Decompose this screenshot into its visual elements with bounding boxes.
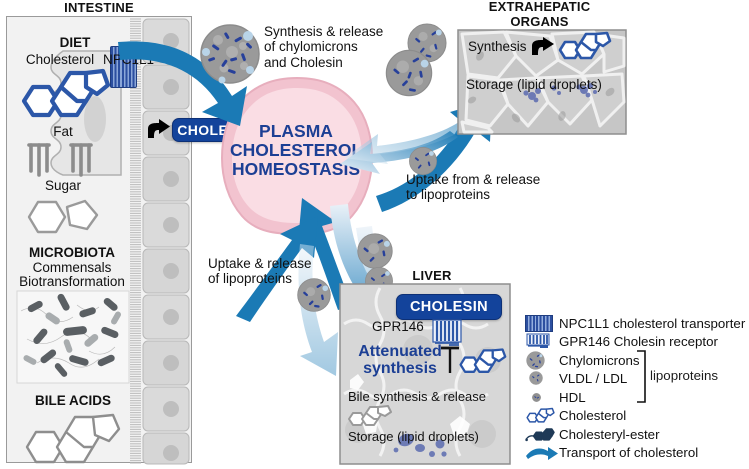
liver-storage-label: Storage (lipid droplets) xyxy=(348,430,479,444)
extrahepatic-storage-label: Storage (lipid droplets) xyxy=(466,78,602,93)
gpr146-label: GPR146 xyxy=(372,320,424,335)
lipoproteins-bracket-label: lipoproteins xyxy=(650,368,718,383)
extrahepatic-title-line-2: ORGANS xyxy=(452,15,627,30)
cholesteryl-ester-icon xyxy=(525,426,559,443)
cholesteryl-ester-glyph xyxy=(525,427,555,443)
legend-item-transport: Transport of cholesterol xyxy=(525,444,747,463)
liver-cholesterol-molecule-icon xyxy=(457,347,507,377)
liver-cholesin-badge: CHOLESIN xyxy=(396,294,502,320)
extrahepatic-cholesterol-molecule-icon xyxy=(556,32,612,62)
synthesis-release-line-2: of chylomicrons xyxy=(264,39,383,54)
legend-label-transport: Transport of cholesterol xyxy=(559,445,698,460)
legend-label-vldl-ldl: VLDL / LDL xyxy=(559,371,627,386)
uptake-from-line-1: Uptake from & release xyxy=(406,172,540,187)
uptake-from-line-2: to lipoproteins xyxy=(406,187,540,202)
uptake-from-release-to-annotation: Uptake from & release to lipoproteins xyxy=(406,172,540,203)
chylomicron-glyph xyxy=(526,351,545,370)
extrahepatic-title-line-1: EXTRAHEPATIC xyxy=(452,0,627,15)
legend-label-npc1l1: NPC1L1 cholesterol transporter xyxy=(559,316,745,331)
legend-label-hdl: HDL xyxy=(559,390,586,405)
synthesis-release-line-1: Synthesis & release xyxy=(264,24,383,39)
extrahepatic-synthesis-label: Synthesis xyxy=(468,40,527,55)
attenuated-synthesis-label: Attenuated synthesis xyxy=(350,344,450,378)
synthesis-release-line-3: and Cholesin xyxy=(264,55,383,70)
hdl-glyph xyxy=(532,393,541,402)
extrahepatic-synthesis-arrow-icon xyxy=(530,36,556,58)
chylomicron-icon xyxy=(198,22,262,86)
legend-label-gpr146: GPR146 Cholesin receptor xyxy=(559,334,718,349)
synthesis-release-annotation: Synthesis & release of chylomicrons and … xyxy=(264,24,383,70)
cholesterol-glyph xyxy=(525,407,555,424)
attenuated-line-1: Attenuated xyxy=(350,344,450,361)
lipoproteins-bracket xyxy=(636,350,648,403)
chylomicron-icon xyxy=(525,352,559,369)
npc1l1-transporter-icon xyxy=(525,315,559,332)
legend-label-chylomicrons: Chylomicrons xyxy=(559,353,640,368)
transport-arrow-glyph xyxy=(525,445,559,461)
chylomicron-icon-3 xyxy=(296,277,332,313)
legend-item-cholesterol: Cholesterol xyxy=(525,407,747,426)
vldl-ldl-glyph xyxy=(529,371,543,385)
cholesterol-molecule-icon xyxy=(525,407,559,424)
extrahepatic-organs-title: EXTRAHEPATIC ORGANS xyxy=(452,0,627,29)
liver-bile-molecule-icon xyxy=(346,404,398,428)
legend-label-cholesteryl-ester: Cholesteryl-ester xyxy=(559,427,660,442)
vldl-ldl-icon xyxy=(525,370,559,387)
gpr146-glyph xyxy=(525,333,553,349)
chylomicron-icon-4 xyxy=(356,232,394,270)
legend-item-cholesteryl-ester: Cholesteryl-ester xyxy=(525,425,747,444)
chylomicron-icon-2 xyxy=(384,48,434,98)
gpr146-receptor-icon xyxy=(525,333,559,350)
liver-bile-label: Bile synthesis & release xyxy=(348,390,486,404)
hdl-icon xyxy=(525,389,559,406)
legend-item-gpr146: GPR146 Cholesin receptor xyxy=(525,333,747,352)
legend-label-cholesterol: Cholesterol xyxy=(559,408,626,423)
attenuated-line-2: synthesis xyxy=(350,361,450,378)
liver-title: LIVER xyxy=(372,268,492,283)
transport-arrow-icon xyxy=(525,444,559,461)
uptake-release-line-1: Uptake & release xyxy=(208,256,312,271)
legend-item-npc1l1: NPC1L1 cholesterol transporter xyxy=(525,314,747,333)
